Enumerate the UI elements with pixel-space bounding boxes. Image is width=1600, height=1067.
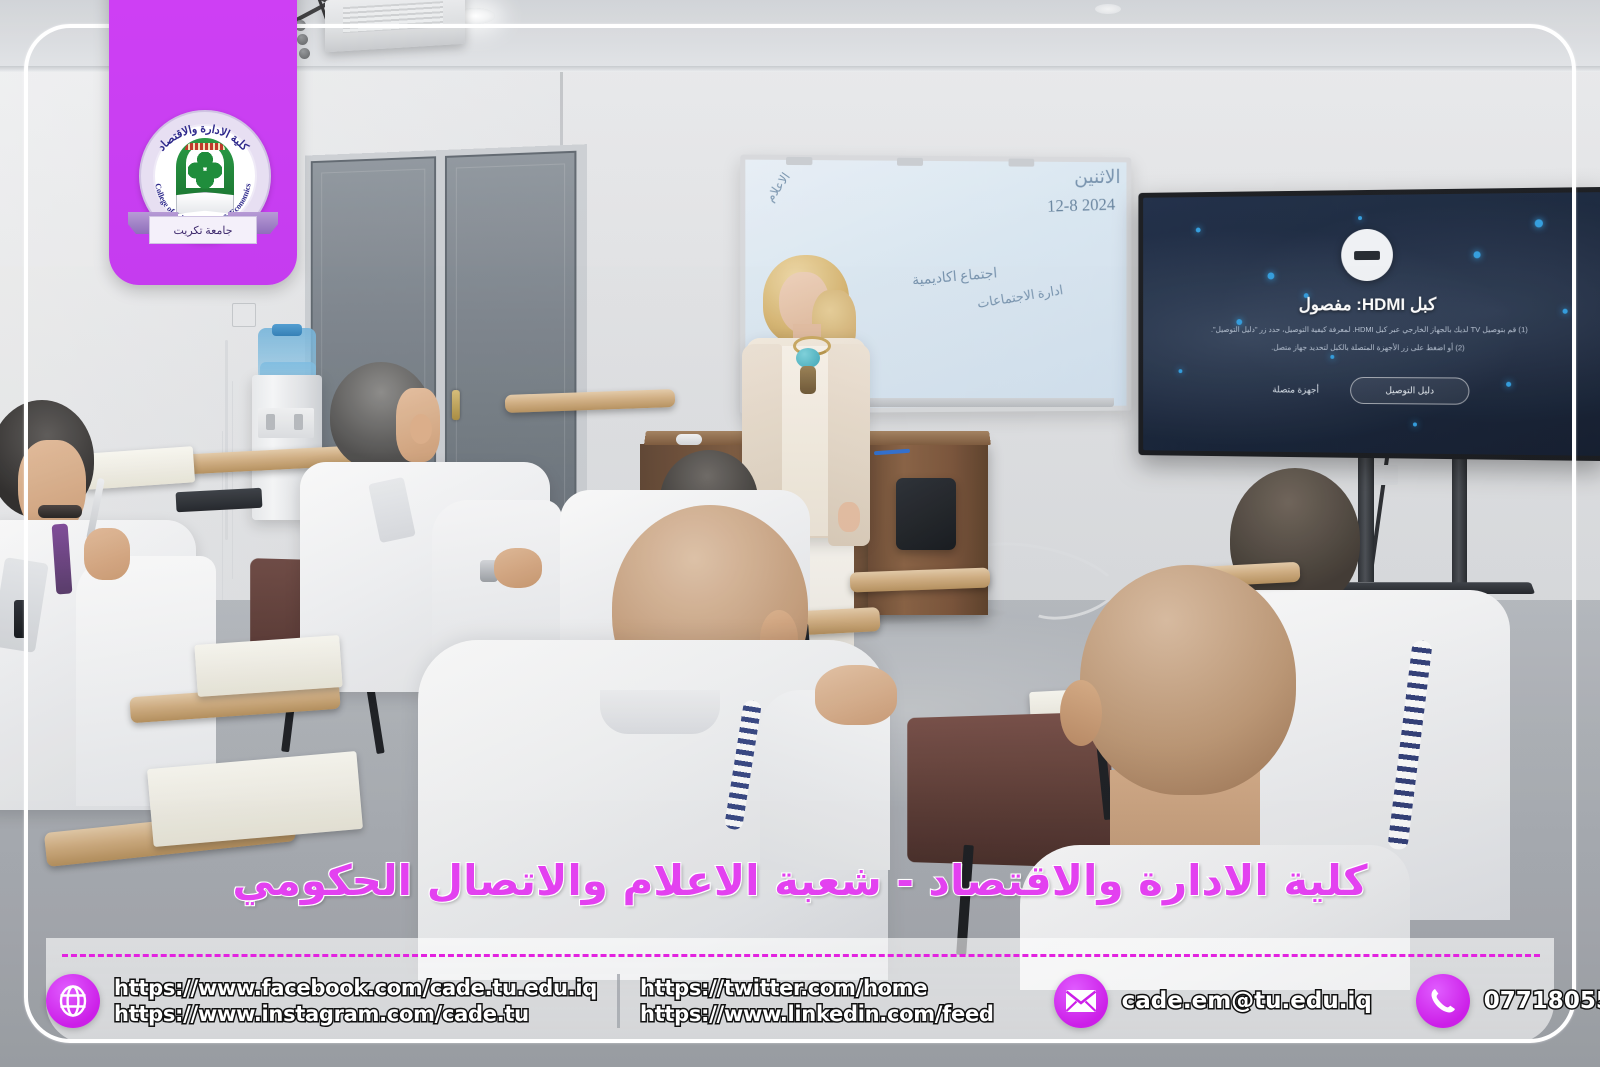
college-logo-emblem: كلية الادارة والاقتصاد College of Admini… [121,110,285,242]
tv-connected-devices-button[interactable]: أجهزة متصلة [1266,377,1324,402]
student-2-ear [410,414,432,444]
tv-connection-guide-button[interactable]: دليل التوصيل [1351,377,1470,405]
whiteboard-day-text: الاثنين [1074,166,1120,189]
footer-contact-row: https://www.facebook.com/cade.tu.edu.iq … [46,958,1554,1044]
television: كبل HDMI: مفصول (1) قم بتوصيل TV لديك با… [1138,187,1600,461]
poster-root: الاثنين 12-8 2024 اجتماع اكاديمية ادارة … [0,0,1600,1067]
tv-screen: كبل HDMI: مفصول (1) قم بتوصيل TV لديك با… [1143,192,1600,456]
social-links-group[interactable]: https://www.facebook.com/cade.tu.edu.iq … [46,974,597,1028]
student-4-collar [600,690,720,734]
whiteboard-note-1: اجتماع اكاديمية [911,265,998,289]
tv-stand-pole-right [1452,452,1467,592]
globe-icon [46,974,100,1028]
emblem-arch-pattern [185,143,225,150]
envelope-icon [1054,974,1108,1028]
linkedin-url[interactable]: https://www.linkedin.com/feed [640,1002,994,1026]
ceiling-light-secondary-icon [1095,4,1121,14]
wall-socket [1372,465,1398,485]
tv-button-row: دليل التوصيل أجهزة متصلة [1143,376,1600,406]
phone-number[interactable]: 07718055128 [1484,988,1600,1014]
notebook-2 [194,635,342,697]
power-cable [225,340,228,540]
student-1-hand [84,528,130,580]
projector-knob-3 [299,48,310,59]
door-handle-icon[interactable] [452,390,460,420]
laptop-bag [896,478,956,550]
emblem-ribbon: جامعة تكريت [128,210,278,246]
whiteboard-clip-3 [1009,159,1035,167]
emblem-tree-icon [188,152,222,194]
student-1-moustache [38,505,82,518]
tv-message-line-1: (1) قم بتوصيل TV لديك بالجهاز الخارجي عب… [1157,323,1587,337]
footer-divider-1 [617,974,620,1028]
phone-group[interactable]: 07718055128 [1416,974,1600,1028]
tv-message-line-2: (2) أو اضغط على زر الأجهزة المتصلة بالكب… [1157,341,1587,356]
facebook-url[interactable]: https://www.facebook.com/cade.tu.edu.iq [114,976,597,1000]
university-name: جامعة تكريت [173,224,232,237]
logo-banner: كلية الادارة والاقتصاد College of Admini… [109,0,297,285]
instagram-url[interactable]: https://www.instagram.com/cade.tu [114,1002,597,1026]
email-group[interactable]: cade.em@tu.edu.iq [1054,974,1372,1028]
instructor-pendant-bead [796,348,820,368]
light-switch[interactable] [232,303,256,327]
email-address[interactable]: cade.em@tu.edu.iq [1122,988,1372,1014]
whiteboard-clip-2 [897,158,923,166]
ribbon-center: جامعة تكريت [149,216,257,244]
projector-vents [343,1,443,33]
water-jug-cap [272,324,302,336]
poster-caption: كلية الادارة والاقتصاد - شعبة الاعلام وا… [0,856,1600,905]
student-5-ear [1060,680,1102,746]
student-1-pocket-badge [14,600,28,638]
tv-stand-pole-left [1358,452,1374,582]
hdmi-port-icon [1341,229,1393,281]
computer-mouse [676,434,702,445]
whiteboard-note-3: الاعلام [761,169,795,206]
student-2-hand [494,548,542,588]
tv-message-title: كبل HDMI: مفصول [1143,294,1600,315]
water-tap-cold[interactable] [266,414,275,430]
student-5-head [1080,565,1296,795]
whiteboard-note-2: ادارة الاجتماعات [976,282,1064,311]
twitter-url[interactable]: https://twitter.com/home [640,976,994,1000]
student-4-hand [815,665,897,725]
instructor-pendant [800,366,816,394]
projector-knob-2 [297,34,308,45]
ceiling-projector [325,0,465,52]
whiteboard-clip-1 [786,157,812,165]
footer-dashed-divider [62,954,1540,957]
phone-icon [1416,974,1470,1028]
social-url-list: https://www.facebook.com/cade.tu.edu.iq … [114,976,597,1026]
social-url-list-2: https://twitter.com/home https://www.lin… [640,976,994,1026]
whiteboard-date-text: 12-8 2024 [1046,195,1115,217]
water-tap-hot[interactable] [294,414,303,430]
instructor-hand [838,502,860,532]
